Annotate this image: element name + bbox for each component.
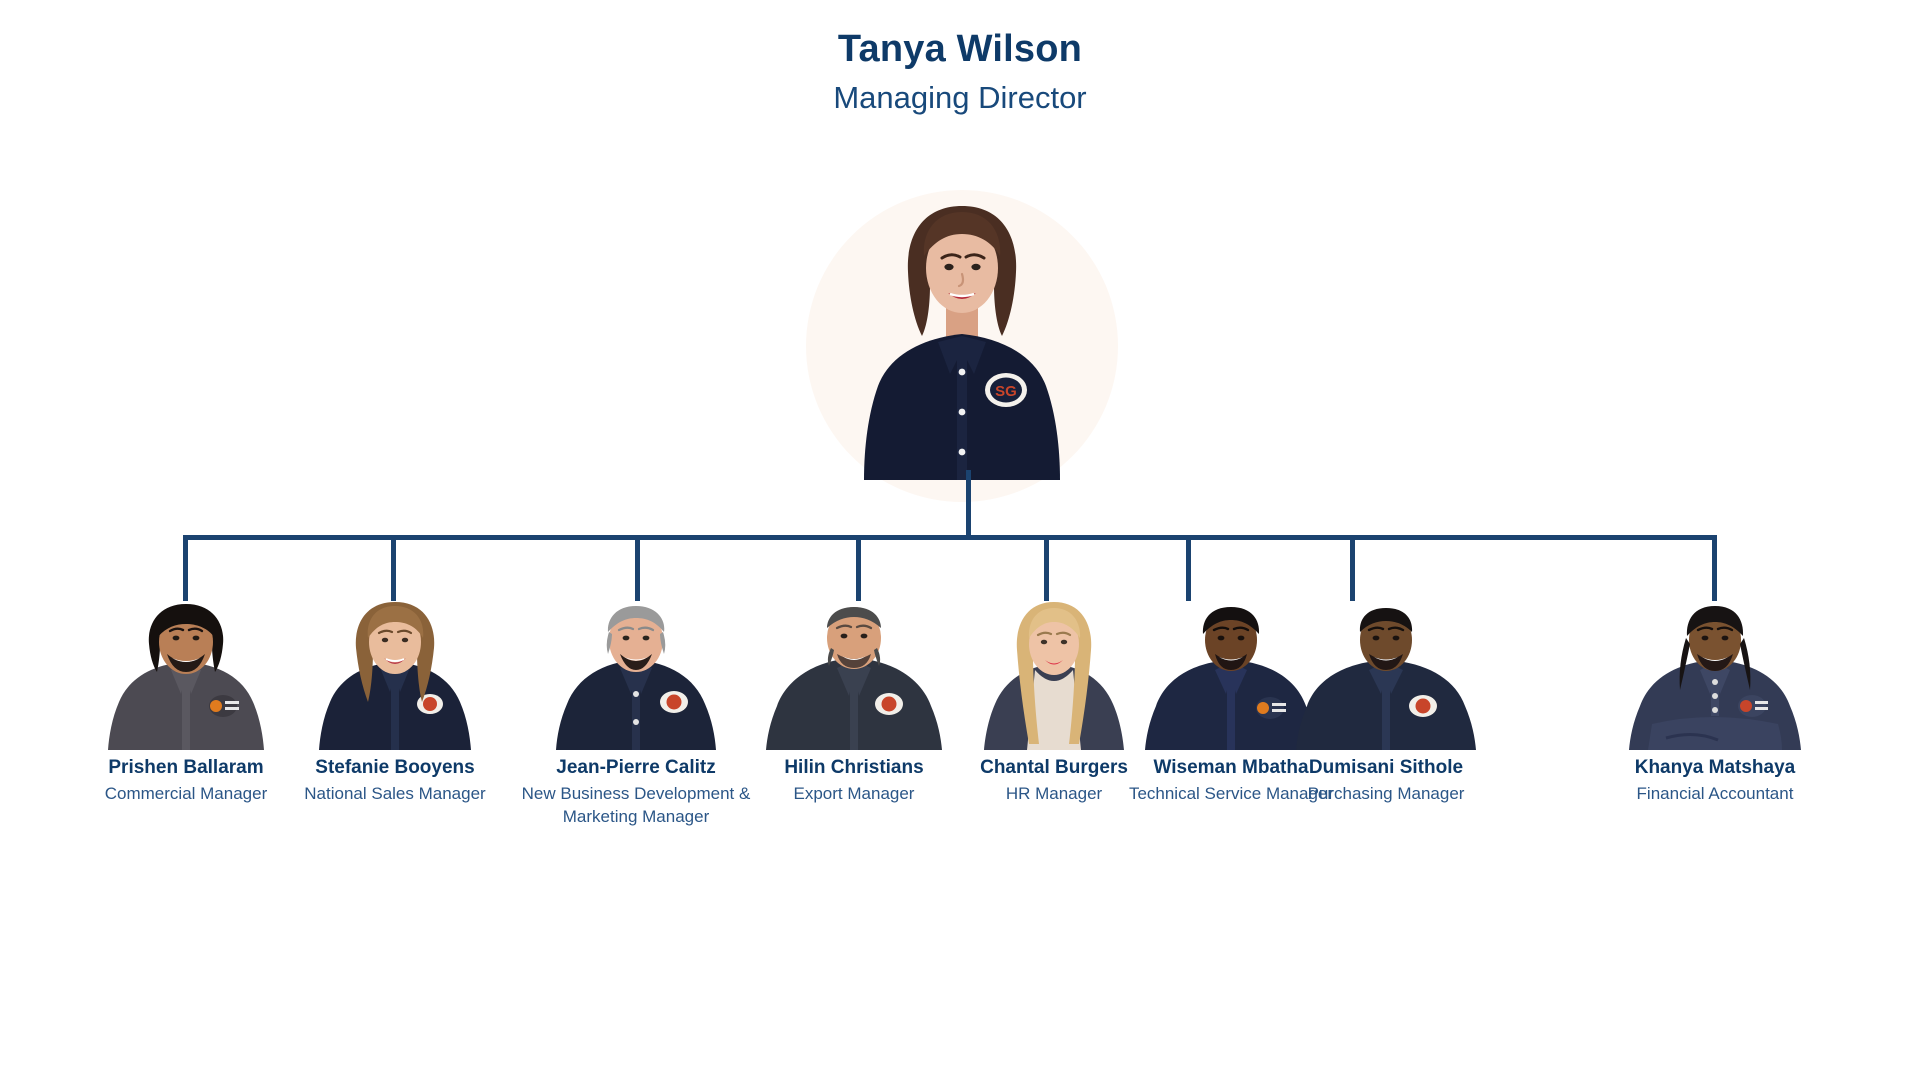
person-card-8[interactable]: Khanya Matshaya Financial Accountant	[1600, 598, 1830, 806]
person-card-3[interactable]: Jean-Pierre Calitz New Business Developm…	[521, 598, 751, 829]
person-portrait-2	[280, 598, 510, 750]
connector-drop-3	[635, 535, 640, 601]
person-name-8: Khanya Matshaya	[1600, 756, 1830, 780]
person-role-8: Financial Accountant	[1600, 783, 1830, 806]
person-role-1: Commercial Manager	[71, 783, 301, 806]
person-card-2[interactable]: Stefanie Booyens National Sales Manager	[280, 598, 510, 806]
svg-text:SG: SG	[995, 383, 1017, 400]
person-role-3: New Business Development & Marketing Man…	[521, 783, 751, 829]
person-portrait-7	[1271, 598, 1501, 750]
root-avatar: SG	[806, 190, 1118, 502]
connector-drop-4	[856, 535, 861, 601]
connector-drop-7	[1350, 535, 1355, 601]
person-name-4: Hilin Christians	[739, 756, 969, 780]
person-card-7[interactable]: Dumisani Sithole Purchasing Manager	[1271, 598, 1501, 806]
connector-drop-8	[1712, 535, 1717, 601]
connector-drop-5	[1044, 535, 1049, 601]
person-name-2: Stefanie Booyens	[280, 756, 510, 780]
person-name-7: Dumisani Sithole	[1271, 756, 1501, 780]
connector-drop-6	[1186, 535, 1191, 601]
person-role-4: Export Manager	[739, 783, 969, 806]
person-card-4[interactable]: Hilin Christians Export Manager	[739, 598, 969, 806]
person-portrait-8	[1600, 598, 1830, 750]
connector-drop-1	[183, 535, 188, 601]
root-portrait-image: SG	[854, 190, 1070, 480]
person-role-2: National Sales Manager	[280, 783, 510, 806]
person-portrait-1	[71, 598, 301, 750]
root-name: Tanya Wilson	[0, 28, 1920, 72]
org-chart: Tanya Wilson Managing Director	[0, 0, 1920, 1080]
root-node-header: Tanya Wilson Managing Director	[0, 28, 1920, 118]
person-role-7: Purchasing Manager	[1271, 783, 1501, 806]
connector-horizontal-bus	[183, 535, 1717, 540]
person-name-3: Jean-Pierre Calitz	[521, 756, 751, 780]
person-portrait-3	[521, 598, 751, 750]
connector-drop-2	[391, 535, 396, 601]
connector-root-stem	[966, 470, 971, 540]
root-title: Managing Director	[0, 78, 1920, 118]
person-card-1[interactable]: Prishen Ballaram Commercial Manager	[71, 598, 301, 806]
person-name-1: Prishen Ballaram	[71, 756, 301, 780]
person-portrait-4	[739, 598, 969, 750]
